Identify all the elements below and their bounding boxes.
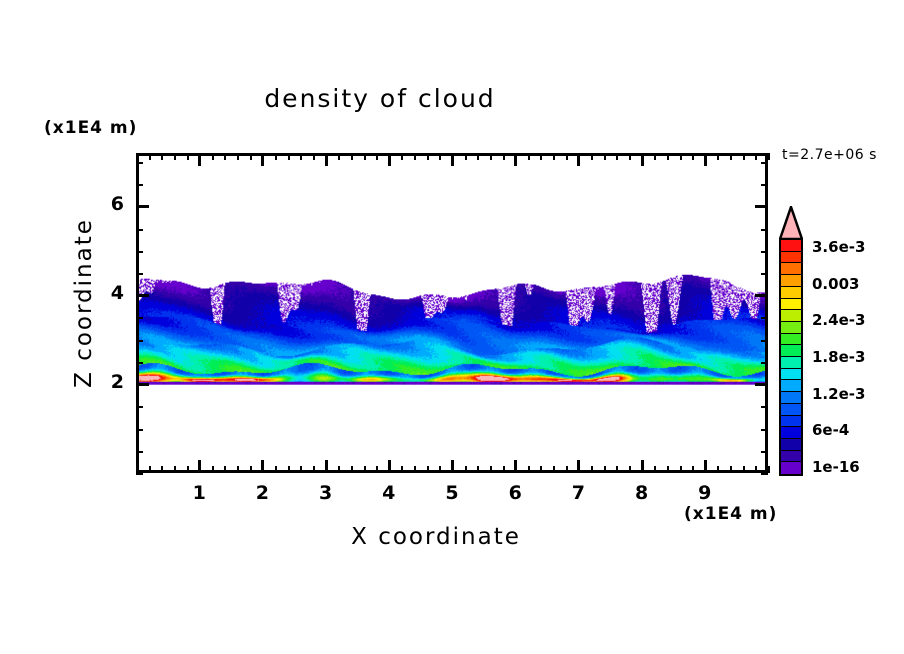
x-minor-tick	[616, 466, 618, 473]
x-minor-tick	[300, 466, 302, 473]
y-minor-tick-right	[761, 251, 768, 253]
x-major-tick	[514, 460, 517, 473]
x-minor-tick	[490, 466, 492, 473]
x-axis-title: X coordinate	[276, 524, 596, 550]
x-minor-tick	[224, 466, 226, 473]
colorbar-tick-label: 3.6e-3	[812, 238, 865, 256]
x-minor-tick-top	[566, 153, 568, 160]
x-minor-tick	[604, 466, 606, 473]
colorbar-band-divider	[781, 344, 801, 345]
x-minor-tick-top	[616, 153, 618, 160]
x-minor-tick-top	[288, 153, 290, 160]
x-minor-tick	[667, 466, 669, 473]
x-minor-tick	[212, 466, 214, 473]
x-minor-tick	[161, 466, 163, 473]
x-major-tick-top	[451, 153, 454, 166]
x-tick-label: 9	[685, 482, 725, 504]
x-minor-tick	[275, 466, 277, 473]
colorbar-tick-label: 2.4e-3	[812, 311, 865, 329]
colorbar-tick-label: 6e-4	[812, 421, 849, 439]
x-minor-tick-top	[414, 153, 416, 160]
x-minor-tick-top	[503, 153, 505, 160]
y-minor-tick-right	[761, 229, 768, 231]
colorbar-band-divider	[781, 321, 801, 322]
colorbar-band-divider	[781, 262, 801, 263]
y-major-tick-right	[755, 383, 768, 386]
x-minor-tick	[187, 466, 189, 473]
y-minor-tick	[136, 317, 143, 319]
x-minor-tick	[591, 466, 593, 473]
x-minor-tick-top	[212, 153, 214, 160]
colorbar-band-divider	[781, 309, 801, 310]
y-minor-tick	[136, 184, 143, 186]
x-minor-tick-top	[553, 153, 555, 160]
y-tick-label: 4	[84, 282, 124, 304]
x-minor-tick	[477, 466, 479, 473]
colorbar-band-divider	[781, 450, 801, 451]
x-minor-tick-top	[667, 153, 669, 160]
x-tick-label: 6	[495, 482, 535, 504]
x-minor-tick	[250, 466, 252, 473]
y-minor-tick-right	[761, 429, 768, 431]
x-minor-tick-top	[313, 153, 315, 160]
x-minor-tick	[351, 466, 353, 473]
y-major-tick-right	[755, 294, 768, 297]
density-field-canvas	[139, 156, 765, 470]
colorbar-band-divider	[781, 438, 801, 439]
contour-plot-area	[136, 153, 768, 473]
colorbar-band-divider	[781, 415, 801, 416]
x-minor-tick-top	[604, 153, 606, 160]
x-major-tick-top	[388, 153, 391, 166]
x-major-tick-top	[325, 153, 328, 166]
x-major-tick	[577, 460, 580, 473]
x-major-tick-top	[261, 153, 264, 166]
y-minor-tick-right	[761, 184, 768, 186]
page-title: density of cloud	[0, 84, 760, 113]
colorbar-band-divider	[781, 251, 801, 252]
colorbar-band-divider	[781, 403, 801, 404]
y-minor-tick-right	[761, 273, 768, 275]
x-minor-tick-top	[717, 153, 719, 160]
x-minor-tick-top	[224, 153, 226, 160]
x-minor-tick	[566, 466, 568, 473]
x-minor-tick	[288, 466, 290, 473]
x-minor-tick	[174, 466, 176, 473]
y-minor-tick-right	[761, 451, 768, 453]
x-major-tick-top	[704, 153, 707, 166]
x-minor-tick	[338, 466, 340, 473]
x-minor-tick-top	[275, 153, 277, 160]
y-major-tick	[136, 294, 149, 297]
colorbar-band-divider	[781, 298, 801, 299]
x-minor-tick-top	[439, 153, 441, 160]
y-minor-tick	[136, 451, 143, 453]
x-tick-label: 7	[558, 482, 598, 504]
y-minor-tick	[136, 473, 143, 475]
colorbar-band-divider	[781, 461, 801, 462]
colorbar-band-divider	[781, 391, 801, 392]
x-minor-tick	[439, 466, 441, 473]
x-minor-tick	[553, 466, 555, 473]
x-minor-tick-top	[161, 153, 163, 160]
colorbar-band-divider	[781, 368, 801, 369]
x-minor-tick	[768, 466, 770, 473]
x-minor-tick-top	[401, 153, 403, 160]
x-minor-tick-top	[730, 153, 732, 160]
colorbar-band-divider	[781, 426, 801, 427]
x-minor-tick	[414, 466, 416, 473]
x-major-tick	[261, 460, 264, 473]
x-minor-tick-top	[136, 153, 138, 160]
x-minor-tick-top	[768, 153, 770, 160]
x-minor-tick	[755, 466, 757, 473]
x-major-tick-top	[198, 153, 201, 166]
x-major-tick	[325, 460, 328, 473]
y-tick-label: 6	[84, 193, 124, 215]
x-minor-tick-top	[629, 153, 631, 160]
x-minor-tick-top	[591, 153, 593, 160]
x-minor-tick	[629, 466, 631, 473]
y-major-tick	[136, 383, 149, 386]
y-minor-tick	[136, 429, 143, 431]
y-minor-tick-right	[761, 406, 768, 408]
x-major-tick	[451, 460, 454, 473]
figure-root: density of cloud (x1E4 m) t=2.7e+06 s (x…	[0, 0, 904, 654]
x-tick-label: 8	[622, 482, 662, 504]
y-minor-tick	[136, 251, 143, 253]
x-minor-tick	[654, 466, 656, 473]
x-minor-tick-top	[540, 153, 542, 160]
x-major-tick-top	[641, 153, 644, 166]
x-minor-tick	[465, 466, 467, 473]
x-minor-tick-top	[528, 153, 530, 160]
y-minor-tick	[136, 229, 143, 231]
x-minor-tick	[313, 466, 315, 473]
x-minor-tick	[540, 466, 542, 473]
colorbar-band-divider	[781, 379, 801, 380]
x-minor-tick	[717, 466, 719, 473]
y-minor-tick	[136, 362, 143, 364]
x-tick-label: 5	[432, 482, 472, 504]
x-minor-tick	[680, 466, 682, 473]
y-tick-label: 2	[84, 371, 124, 393]
x-minor-tick-top	[465, 153, 467, 160]
colorbar-band-divider	[781, 286, 801, 287]
x-minor-tick-top	[692, 153, 694, 160]
x-minor-tick	[149, 466, 151, 473]
x-minor-tick-top	[477, 153, 479, 160]
colorbar-tick-label: 0.003	[812, 275, 859, 293]
x-minor-tick-top	[364, 153, 366, 160]
y-major-tick	[136, 205, 149, 208]
x-minor-tick-top	[187, 153, 189, 160]
x-tick-label: 1	[179, 482, 219, 504]
x-minor-tick-top	[427, 153, 429, 160]
y-minor-tick-right	[761, 317, 768, 319]
colorbar-tick-label: 1.8e-3	[812, 348, 865, 366]
x-minor-tick	[364, 466, 366, 473]
x-tick-label: 3	[306, 482, 346, 504]
y-minor-tick-right	[761, 162, 768, 164]
colorbar-segment	[781, 462, 801, 474]
y-minor-tick	[136, 340, 143, 342]
colorbar-tick-label: 1e-16	[812, 458, 860, 476]
x-major-tick	[704, 460, 707, 473]
y-minor-tick	[136, 273, 143, 275]
x-minor-tick	[136, 466, 138, 473]
x-minor-tick-top	[149, 153, 151, 160]
x-minor-tick	[528, 466, 530, 473]
x-major-tick-top	[514, 153, 517, 166]
x-minor-tick-top	[237, 153, 239, 160]
x-major-tick	[388, 460, 391, 473]
y-major-tick-right	[755, 205, 768, 208]
x-minor-tick-top	[376, 153, 378, 160]
colorbar-band-divider	[781, 274, 801, 275]
x-minor-tick-top	[680, 153, 682, 160]
x-minor-tick	[692, 466, 694, 473]
x-minor-tick-top	[300, 153, 302, 160]
x-major-tick-top	[577, 153, 580, 166]
x-minor-tick	[401, 466, 403, 473]
x-tick-label: 2	[242, 482, 282, 504]
x-minor-tick	[237, 466, 239, 473]
y-minor-tick-right	[761, 473, 768, 475]
x-minor-tick	[743, 466, 745, 473]
y-minor-tick-right	[761, 340, 768, 342]
colorbar-band-divider	[781, 356, 801, 357]
colorbar-overflow-cap	[779, 206, 803, 240]
x-major-tick	[641, 460, 644, 473]
x-minor-tick	[730, 466, 732, 473]
x-minor-tick-top	[250, 153, 252, 160]
x-minor-tick	[503, 466, 505, 473]
x-minor-tick-top	[743, 153, 745, 160]
x-minor-tick-top	[755, 153, 757, 160]
colorbar	[779, 238, 803, 476]
y-minor-tick	[136, 162, 143, 164]
colorbar-tick-label: 1.2e-3	[812, 385, 865, 403]
x-minor-tick	[376, 466, 378, 473]
x-minor-tick-top	[490, 153, 492, 160]
colorbar-band-divider	[781, 333, 801, 334]
x-minor-tick	[427, 466, 429, 473]
x-minor-tick-top	[338, 153, 340, 160]
x-minor-tick-top	[351, 153, 353, 160]
x-minor-tick-top	[654, 153, 656, 160]
y-unit-label: (x1E4 m)	[44, 118, 137, 138]
timestamp-annotation: t=2.7e+06 s	[782, 147, 877, 163]
y-minor-tick	[136, 406, 143, 408]
x-unit-label: (x1E4 m)	[684, 504, 777, 524]
x-major-tick	[198, 460, 201, 473]
x-minor-tick-top	[174, 153, 176, 160]
y-minor-tick-right	[761, 362, 768, 364]
x-tick-label: 4	[369, 482, 409, 504]
